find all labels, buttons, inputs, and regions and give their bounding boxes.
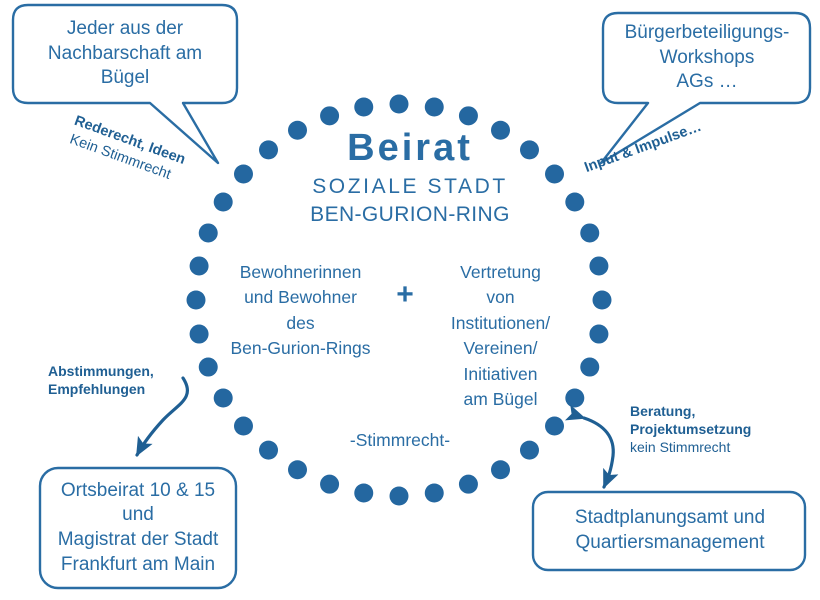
ring-dot: [187, 291, 206, 310]
ring-subtitle-primary: SOZIALE STADT: [260, 174, 560, 200]
ring-dot: [320, 106, 339, 125]
ring-voting-rights-note: -Stimmrecht-: [310, 430, 490, 451]
ring-dot: [459, 475, 478, 494]
ring-dot: [354, 484, 373, 503]
callout-top-right-label[interactable]: Bürgerbeteiligungs- Workshops AGs …: [608, 16, 806, 100]
annotation-abstimmungen-line2: Empfehlungen: [48, 381, 145, 397]
ring-column-residents: Bewohnerinnen und Bewohner des Ben-Gurio…: [218, 260, 383, 362]
ring-dot: [234, 416, 253, 435]
ring-dot: [459, 106, 478, 125]
diagram-canvas: Beirat SOZIALE STADT BEN-GURION-RING Bew…: [0, 0, 820, 600]
ring-dot: [545, 416, 564, 435]
ring-dot: [565, 193, 584, 212]
ring-dot: [190, 325, 209, 344]
ring-dot: [425, 97, 444, 116]
ring-dot: [390, 487, 409, 506]
ring-dot: [580, 358, 599, 377]
ring-dot: [589, 325, 608, 344]
callout-top-left-label[interactable]: Jeder aus der Nachbarschaft am Bügel: [18, 8, 232, 100]
ring-dot: [354, 97, 373, 116]
annotation-abstimmungen: Abstimmungen, Empfehlungen: [48, 362, 218, 398]
arrow-beratung: [584, 418, 613, 487]
ring-dot: [390, 95, 409, 114]
ring-dot: [491, 460, 510, 479]
annotation-beratung-line1: Beratung,: [630, 402, 815, 420]
ring-dot: [589, 256, 608, 275]
ring-column-institutions: Vertretung von Institutionen/ Vereinen/ …: [428, 260, 573, 412]
plus-icon: +: [385, 277, 425, 314]
ring-dot: [190, 256, 209, 275]
ring-title: Beirat: [260, 125, 560, 171]
ring-dot: [593, 291, 612, 310]
annotation-beratung: Beratung, Projektumsetzung kein Stimmrec…: [630, 402, 815, 457]
box-bottom-right-label[interactable]: Stadtplanungsamt und Quartiersmanagement: [538, 496, 802, 566]
ring-dot: [320, 475, 339, 494]
box-bottom-left-label[interactable]: Ortsbeirat 10 & 15 und Magistrat der Sta…: [45, 472, 231, 584]
ring-dot: [288, 460, 307, 479]
annotation-abstimmungen-line1: Abstimmungen,: [48, 363, 154, 379]
annotation-beratung-line3: kein Stimmrecht: [630, 438, 815, 456]
ring-dot: [520, 441, 539, 460]
ring-dot: [425, 484, 444, 503]
ring-dot: [199, 223, 218, 242]
ring-dot: [580, 223, 599, 242]
ring-dot: [259, 441, 278, 460]
ring-subtitle-secondary: BEN-GURION-RING: [260, 202, 560, 228]
annotation-beratung-line2: Projektumsetzung: [630, 420, 815, 438]
ring-dot: [234, 165, 253, 184]
